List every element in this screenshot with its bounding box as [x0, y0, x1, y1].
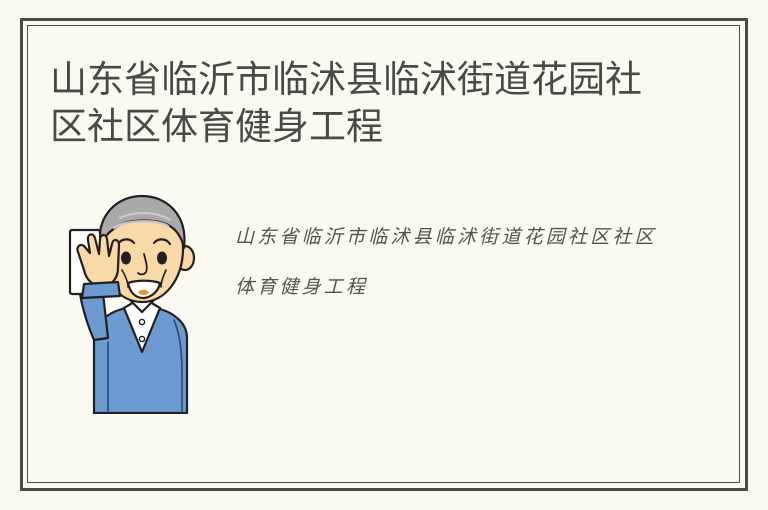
- content-row: 山东省临沂市临沭县临沭街道花园社区社区体育健身工程: [50, 192, 700, 422]
- elderly-man-holding-card-illustration: [56, 192, 208, 414]
- body-text: 山东省临沂市临沭县临沭街道花园社区社区体育健身工程: [235, 212, 665, 312]
- poster-canvas: 山东省临沂市临沭县临沭街道花园社区社区体育健身工程: [0, 0, 768, 510]
- page-title: 山东省临沂市临沭县临沭街道花园社区社区体育健身工程: [50, 56, 660, 150]
